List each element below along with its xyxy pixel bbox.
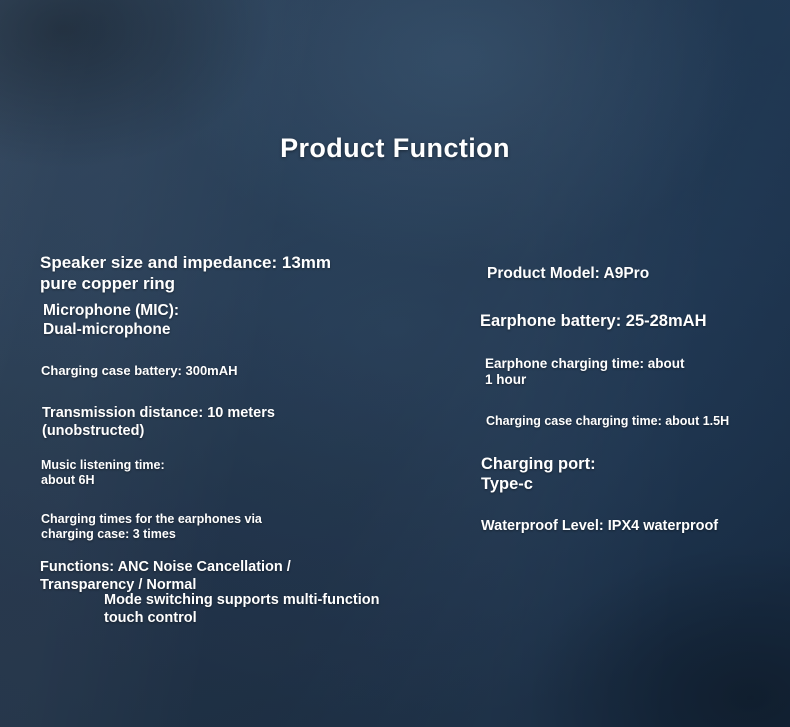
spec-waterproof-level: Waterproof Level: IPX4 waterproof <box>481 518 781 536</box>
spec-charging-case-charging-time: Charging case charging time: about 1.5H <box>486 414 786 429</box>
spec-microphone: Microphone (MIC): Dual-microphone <box>43 302 373 340</box>
spec-charging-case-battery: Charging case battery: 300mAH <box>41 363 381 379</box>
spec-charging-times: Charging times for the earphones via cha… <box>41 512 381 543</box>
page-title: Product Function <box>0 133 790 164</box>
spec-mode-switching: Mode switching supports multi-function t… <box>104 592 444 627</box>
spec-charging-port: Charging port: Type-c <box>481 454 771 494</box>
spec-earphone-charging-time: Earphone charging time: about 1 hour <box>485 356 775 389</box>
spec-speaker-size: Speaker size and impedance: 13mm pure co… <box>40 253 380 294</box>
spec-functions: Functions: ANC Noise Cancellation / Tran… <box>40 559 420 594</box>
spec-earphone-battery: Earphone battery: 25-28mAH <box>480 311 780 331</box>
spec-transmission-distance: Transmission distance: 10 meters (unobst… <box>42 405 382 440</box>
slide-canvas: Product Function Speaker size and impeda… <box>0 0 790 727</box>
spec-music-listening-time: Music listening time: about 6H <box>41 458 371 489</box>
spec-product-model: Product Model: A9Pro <box>487 265 777 284</box>
slide-content: Product Function Speaker size and impeda… <box>0 0 790 727</box>
